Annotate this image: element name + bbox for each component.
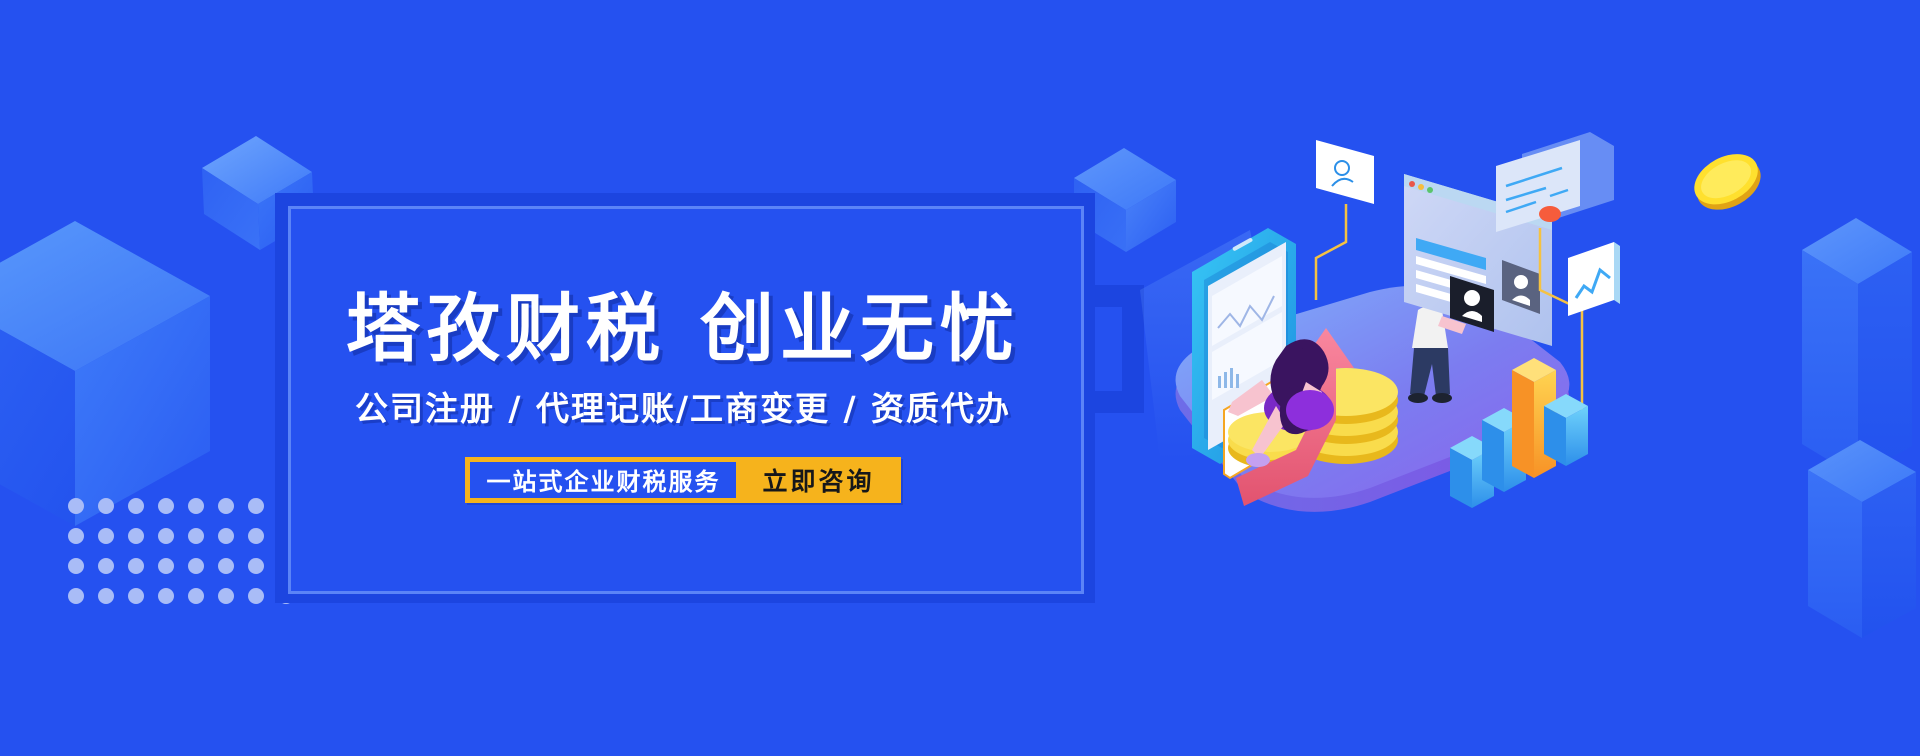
- line-chart-card: [1568, 242, 1620, 316]
- promotional-banner: 塔孜财税创业无忧 公司注册 / 代理记账/工商变更 / 资质代办 一站式企业财税…: [0, 0, 1920, 756]
- grid-dot: [68, 558, 84, 574]
- grid-dot: [128, 498, 144, 514]
- grid-dot: [98, 498, 114, 514]
- page-title: 塔孜财税创业无忧: [346, 292, 1020, 366]
- subtitle: 公司注册 / 代理记账/工商变更 / 资质代办: [355, 392, 1011, 425]
- profile-card: [1316, 140, 1374, 204]
- grid-dot: [128, 588, 144, 604]
- cta-tagline: 一站式企业财税服务: [470, 462, 736, 498]
- grid-dot: [158, 528, 174, 544]
- grid-dot: [188, 588, 204, 604]
- dot-grid-pattern: [68, 498, 294, 604]
- grid-dot: [128, 558, 144, 574]
- isometric-cube-icon: [0, 196, 220, 526]
- headline-content: 塔孜财税创业无忧 公司注册 / 代理记账/工商变更 / 资质代办 一站式企业财税…: [288, 206, 1078, 588]
- headline-part-1: 塔孜财税: [346, 286, 666, 372]
- grid-dot: [248, 588, 264, 604]
- grid-dot: [248, 498, 264, 514]
- gold-coin-icon: [1688, 145, 1766, 222]
- grid-dot: [248, 558, 264, 574]
- isometric-box-icon: [1806, 430, 1918, 645]
- headline-part-2: 创业无忧: [700, 286, 1020, 372]
- grid-dot: [188, 528, 204, 544]
- grid-dot: [218, 498, 234, 514]
- grid-dot: [68, 498, 84, 514]
- grid-dot: [68, 528, 84, 544]
- grid-dot: [98, 588, 114, 604]
- grid-dot: [218, 558, 234, 574]
- grid-dot: [158, 588, 174, 604]
- grid-dot: [68, 588, 84, 604]
- grid-dot: [158, 498, 174, 514]
- grid-dot: [98, 558, 114, 574]
- consult-now-button[interactable]: 立即咨询: [736, 457, 900, 503]
- grid-dot: [218, 588, 234, 604]
- grid-dot: [218, 528, 234, 544]
- grid-dot: [98, 528, 114, 544]
- grid-dot: [128, 528, 144, 544]
- grid-dot: [248, 528, 264, 544]
- cta-group[interactable]: 一站式企业财税服务 立即咨询: [465, 457, 900, 503]
- business-finance-illustration: [1120, 110, 1620, 560]
- credit-card: [1496, 132, 1614, 232]
- grid-dot: [158, 558, 174, 574]
- grid-dot: [188, 498, 204, 514]
- grid-dot: [188, 558, 204, 574]
